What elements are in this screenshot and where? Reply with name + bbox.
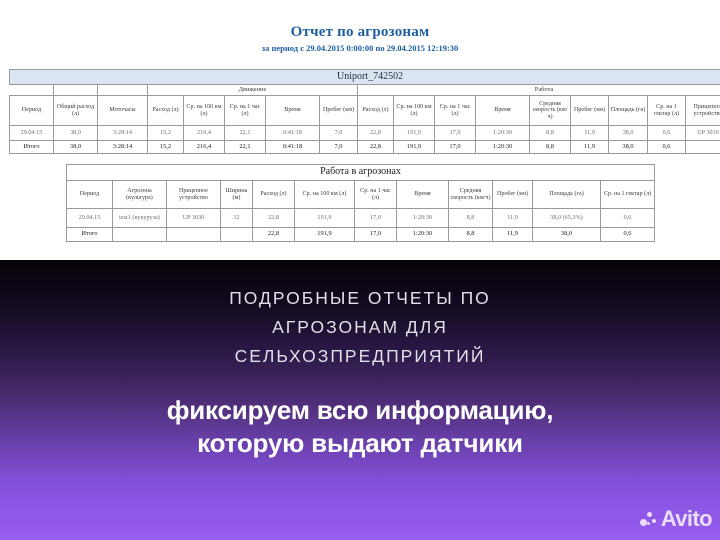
zcell-area: 38,0 (65,3%) — [533, 209, 601, 228]
col-mv-mileage: Пробег (км) — [320, 96, 358, 126]
cell-wk-fuel: 22,8 — [358, 126, 394, 141]
zones-header-row: Период Агрозона (культура) Прицепное уст… — [67, 181, 655, 209]
col-wk-fuel: Расход (л) — [358, 96, 394, 126]
group-header-work: Работа — [358, 85, 720, 96]
total-mv-time: 0:41:18 — [266, 141, 320, 154]
promo-tagline: фиксируем всю информацию, которую выдают… — [0, 394, 720, 460]
group-header-movement: Движение — [148, 85, 358, 96]
report-title: Отчет по агрозонам — [0, 24, 720, 41]
zcol-time: Время — [397, 181, 449, 209]
zcol-implement: Прицепное устройство — [167, 181, 221, 209]
ztotal-mileage: 11,9 — [493, 228, 533, 242]
cell-mv-time: 0:41:18 — [266, 126, 320, 141]
agrozones-table: Работа в агрозонах Период Агрозона (куль… — [66, 164, 655, 242]
cell-implement: UP 3030 — [686, 126, 720, 141]
zcell-perha: 0,6 — [601, 209, 655, 228]
cell-mv-per100: 216,4 — [184, 126, 225, 141]
col-wk-mileage: Пробег (км) — [571, 96, 609, 126]
zcell-agrozone: test1 (кукуруза) — [113, 209, 167, 228]
col-implement: Прицепное устройство — [686, 96, 720, 126]
report-screenshot-area: Отчет по агрозонам за период с 29.04.201… — [0, 0, 720, 260]
cell-total-fuel: 38,0 — [54, 126, 98, 141]
col-wk-perhour: Ср. на 1 час (л) — [435, 96, 476, 126]
table-band-row: Uniport_742502 — [10, 70, 720, 85]
cell-wk-avgspeed: 8,8 — [530, 126, 571, 141]
col-wk-avgspeed: Средняя скорость (км/ч) — [530, 96, 571, 126]
table-group-header-row: Движение Работа — [10, 85, 720, 96]
ztotal-area: 38,0 — [533, 228, 601, 242]
promo-headline-line-3: СЕЛЬХОЗПРЕДПРИЯТИЙ — [0, 342, 720, 371]
zcell-implement: UP 3030 — [167, 209, 221, 228]
zcol-width: Ширина (м) — [221, 181, 253, 209]
cell-mv-mileage: 7,0 — [320, 126, 358, 141]
promo-headline-line-1: ПОДРОБНЫЕ ОТЧЕТЫ ПО — [0, 284, 720, 313]
zcol-mileage: Пробег (км) — [493, 181, 533, 209]
col-wk-perha: Ср. на 1 гектар (л) — [648, 96, 686, 126]
avito-wordmark: Avito — [661, 506, 712, 532]
total-wk-time: 1:20:30 — [476, 141, 530, 154]
zcol-period: Период — [67, 181, 113, 209]
col-wk-per100: Ср. на 100 км (л) — [394, 96, 435, 126]
cell-wk-per100: 191,9 — [394, 126, 435, 141]
total-implement — [686, 141, 720, 154]
zcol-area: Площадь (га) — [533, 181, 601, 209]
cell-mv-perhour: 22,1 — [225, 126, 266, 141]
main-report-table: Uniport_742502 Движение Работа Период Об… — [9, 69, 720, 154]
total-wk-mileage: 11,9 — [571, 141, 609, 154]
zcell-fuel: 22,8 — [253, 209, 295, 228]
total-mv-fuel: 15,2 — [148, 141, 184, 154]
total-wk-fuel: 22,8 — [358, 141, 394, 154]
col-mv-fuel: Расход (л) — [148, 96, 184, 126]
zcol-avgspeed: Средняя скорость (км/ч) — [449, 181, 493, 209]
col-mv-time: Время — [266, 96, 320, 126]
col-mv-perhour: Ср. на 1 час (л) — [225, 96, 266, 126]
zcell-mileage: 11,9 — [493, 209, 533, 228]
cell-wk-perha: 0,6 — [648, 126, 686, 141]
total-mv-mileage: 7,0 — [320, 141, 358, 154]
ztotal-width — [221, 228, 253, 242]
total-wk-avgspeed: 8,8 — [530, 141, 571, 154]
device-band-label: Uniport_742502 — [10, 70, 720, 85]
total-wk-area: 38,0 — [609, 141, 648, 154]
ztotal-agrozone — [113, 228, 167, 242]
zones-band-row: Работа в агрозонах — [67, 165, 655, 181]
cell-wk-perhour: 17,0 — [435, 126, 476, 141]
cell-wk-area: 38,0 — [609, 126, 648, 141]
ztotal-per100: 191,9 — [295, 228, 355, 242]
zcell-width: 32 — [221, 209, 253, 228]
zcell-avgspeed: 8,8 — [449, 209, 493, 228]
promo-tagline-line-2: которую выдают датчики — [0, 427, 720, 460]
ztotal-perha: 0,6 — [601, 228, 655, 242]
total-wk-perha: 0,6 — [648, 141, 686, 154]
avito-watermark: Avito — [640, 506, 712, 532]
col-engine-hours: Моточасы — [98, 96, 148, 126]
zcol-perha: Ср. на 1 гектар (л) — [601, 181, 655, 209]
promo-image: Отчет по агрозонам за период с 29.04.201… — [0, 0, 720, 540]
promo-tagline-line-1: фиксируем всю информацию, — [0, 394, 720, 427]
cell-period: 29.04.15 — [10, 126, 54, 141]
zones-total-row: Итого 22,8 191,9 17,0 1:20:30 8,8 11,9 3… — [67, 228, 655, 242]
zones-band-label: Работа в агрозонах — [67, 165, 655, 181]
ztotal-avgspeed: 8,8 — [449, 228, 493, 242]
total-label: Итого — [10, 141, 54, 154]
zcol-perhour: Ср. на 1 час (л) — [355, 181, 397, 209]
ztotal-implement — [167, 228, 221, 242]
total-wk-perhour: 17,0 — [435, 141, 476, 154]
cell-engine-hours: 3:28:14 — [98, 126, 148, 141]
col-wk-area: Площадь (га) — [609, 96, 648, 126]
promo-headline: ПОДРОБНЫЕ ОТЧЕТЫ ПО АГРОЗОНАМ ДЛЯ СЕЛЬХО… — [0, 284, 720, 371]
zones-table-row: 29.04.15 test1 (кукуруза) UP 3030 32 22,… — [67, 209, 655, 228]
col-period: Период — [10, 96, 54, 126]
cell-wk-mileage: 11,9 — [571, 126, 609, 141]
col-total-fuel: Общий расход (л) — [54, 96, 98, 126]
zcol-agrozone: Агрозона (культура) — [113, 181, 167, 209]
table-row: 29.04.15 38,0 3:28:14 15,2 216,4 22,1 0:… — [10, 126, 720, 141]
table-header-row: Период Общий расход (л) Моточасы Расход … — [10, 96, 720, 126]
total-wk-per100: 191,9 — [394, 141, 435, 154]
promo-headline-line-2: АГРОЗОНАМ ДЛЯ — [0, 313, 720, 342]
cell-mv-fuel: 15,2 — [148, 126, 184, 141]
total-mv-per100: 216,4 — [184, 141, 225, 154]
ztotal-fuel: 22,8 — [253, 228, 295, 242]
zcol-per100: Ср. на 100 км (л) — [295, 181, 355, 209]
avito-dots-icon — [640, 511, 657, 527]
promo-banner: ПОДРОБНЫЕ ОТЧЕТЫ ПО АГРОЗОНАМ ДЛЯ СЕЛЬХО… — [0, 260, 720, 540]
total-total-fuel: 38,0 — [54, 141, 98, 154]
col-mv-per100: Ср. на 100 км (л) — [184, 96, 225, 126]
col-wk-time: Время — [476, 96, 530, 126]
zcol-fuel: Расход (л) — [253, 181, 295, 209]
ztotal-perhour: 17,0 — [355, 228, 397, 242]
ztotal-label: Итого — [67, 228, 113, 242]
total-engine-hours: 3:28:14 — [98, 141, 148, 154]
ztotal-time: 1:20:30 — [397, 228, 449, 242]
zcell-period: 29.04.15 — [67, 209, 113, 228]
report-period-subtitle: за период с 29.04.2015 0:00:00 по 29.04.… — [0, 43, 720, 53]
table-total-row: Итого 38,0 3:28:14 15,2 216,4 22,1 0:41:… — [10, 141, 720, 154]
total-mv-perhour: 22,1 — [225, 141, 266, 154]
cell-wk-time: 1:20:30 — [476, 126, 530, 141]
zcell-perhour: 17,0 — [355, 209, 397, 228]
zcell-time: 1:20:30 — [397, 209, 449, 228]
zcell-per100: 191,9 — [295, 209, 355, 228]
